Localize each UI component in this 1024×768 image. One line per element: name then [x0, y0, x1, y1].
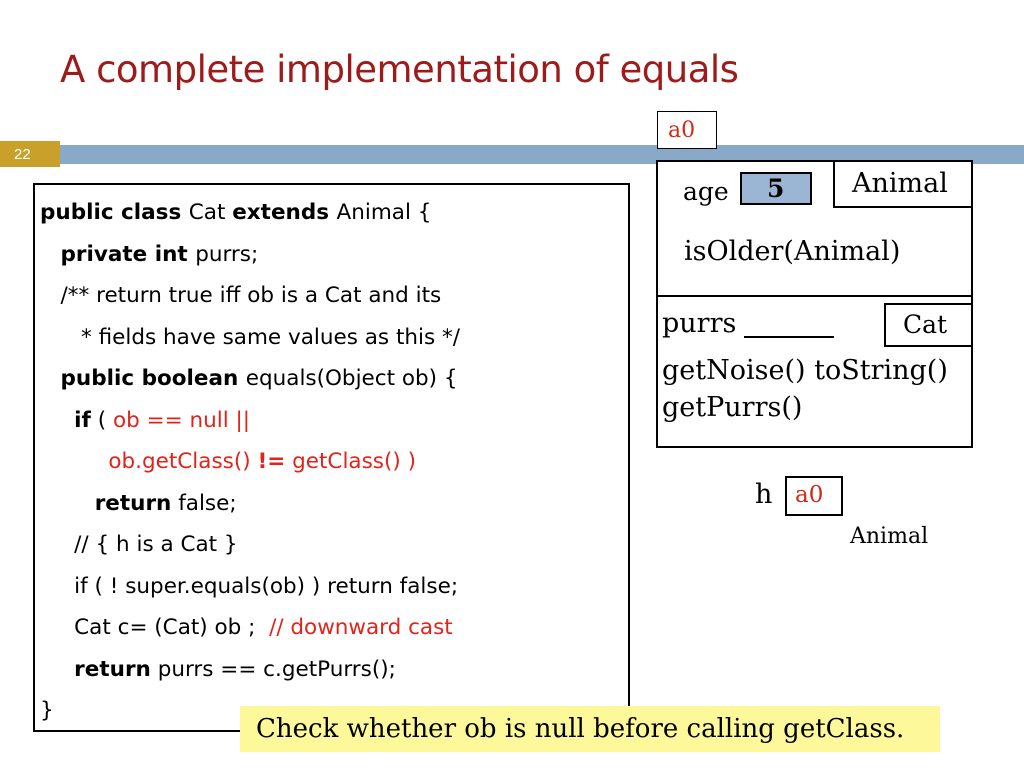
- code-line: ob.getClass() != getClass() ): [40, 441, 630, 483]
- purrs-field-value-blank: [744, 336, 834, 338]
- object-partition-divider: [656, 295, 973, 297]
- code-line: return false;: [40, 483, 630, 525]
- code-token: Animal {: [337, 200, 432, 225]
- code-token: !=: [257, 449, 285, 474]
- slide: A complete implementation of equals 22 p…: [0, 0, 1024, 768]
- page-number: 22: [14, 146, 31, 163]
- code-token: equals(Object ob) {: [246, 366, 458, 391]
- code-token: purrs;: [195, 242, 258, 267]
- purrs-field-label: purrs: [662, 308, 736, 339]
- code-token: ob.getClass(): [108, 449, 257, 474]
- code-token: purrs == c.getPurrs();: [151, 657, 396, 682]
- code-line: Cat c= (Cat) ob ; // downward cast: [40, 607, 630, 649]
- code-token: ob == null ||: [113, 408, 250, 433]
- code-token: Cat c= (Cat) ob ;: [40, 615, 269, 640]
- age-field-value: 5: [767, 174, 784, 203]
- code-token: [40, 449, 108, 474]
- code-token: Cat: [189, 200, 232, 225]
- code-token: false;: [171, 491, 236, 516]
- code-token: * fields have same values as this */: [40, 325, 460, 350]
- code-listing: public class Cat extends Animal { privat…: [40, 192, 630, 732]
- code-line: if ( ! super.equals(ob) ) return false;: [40, 566, 630, 608]
- note-text: Check whether ob is null before calling …: [256, 714, 904, 744]
- variable-value: a0: [795, 482, 823, 508]
- code-token: // { h is a Cat }: [40, 532, 238, 557]
- code-token: }: [40, 698, 54, 723]
- code-line: if ( ob == null ||: [40, 400, 630, 442]
- code-token: /** return true iff ob is a Cat and its: [40, 283, 441, 308]
- variable-type-label: Animal: [850, 524, 928, 549]
- code-token: if: [74, 408, 91, 433]
- code-line: return purrs == c.getPurrs();: [40, 649, 630, 691]
- variable-name-label: h: [755, 479, 772, 510]
- code-token: [40, 242, 61, 267]
- code-token: extends: [232, 200, 336, 225]
- cat-getpurrs-label: getPurrs(): [662, 392, 802, 423]
- code-token: [40, 657, 74, 682]
- code-line: private int purrs;: [40, 234, 630, 276]
- cat-partition-label: Cat: [903, 310, 947, 339]
- code-token: // downward cast: [269, 615, 453, 640]
- code-token: public class: [40, 200, 189, 225]
- code-token: getClass() ): [285, 449, 416, 474]
- cat-methods-label: getNoise() toString(): [662, 355, 948, 386]
- object-name-label: a0: [668, 118, 695, 143]
- code-line: // { h is a Cat }: [40, 524, 630, 566]
- code-token: public boolean: [61, 366, 246, 391]
- animal-method-label: isOlder(Animal): [684, 236, 900, 267]
- animal-partition-label: Animal: [852, 168, 948, 199]
- code-token: return: [74, 657, 151, 682]
- code-token: [40, 491, 95, 516]
- code-token: if ( ! super.equals(ob) ) return false;: [40, 574, 458, 599]
- page-title: A complete implementation of equals: [60, 48, 920, 91]
- age-field-label: age: [683, 177, 729, 206]
- code-token: private int: [61, 242, 196, 267]
- code-line: public boolean equals(Object ob) {: [40, 358, 630, 400]
- code-token: [40, 408, 74, 433]
- code-token: return: [95, 491, 172, 516]
- code-token: (: [91, 408, 113, 433]
- code-token: [40, 366, 61, 391]
- code-line: public class Cat extends Animal {: [40, 192, 630, 234]
- code-line: /** return true iff ob is a Cat and its: [40, 275, 630, 317]
- code-line: * fields have same values as this */: [40, 317, 630, 359]
